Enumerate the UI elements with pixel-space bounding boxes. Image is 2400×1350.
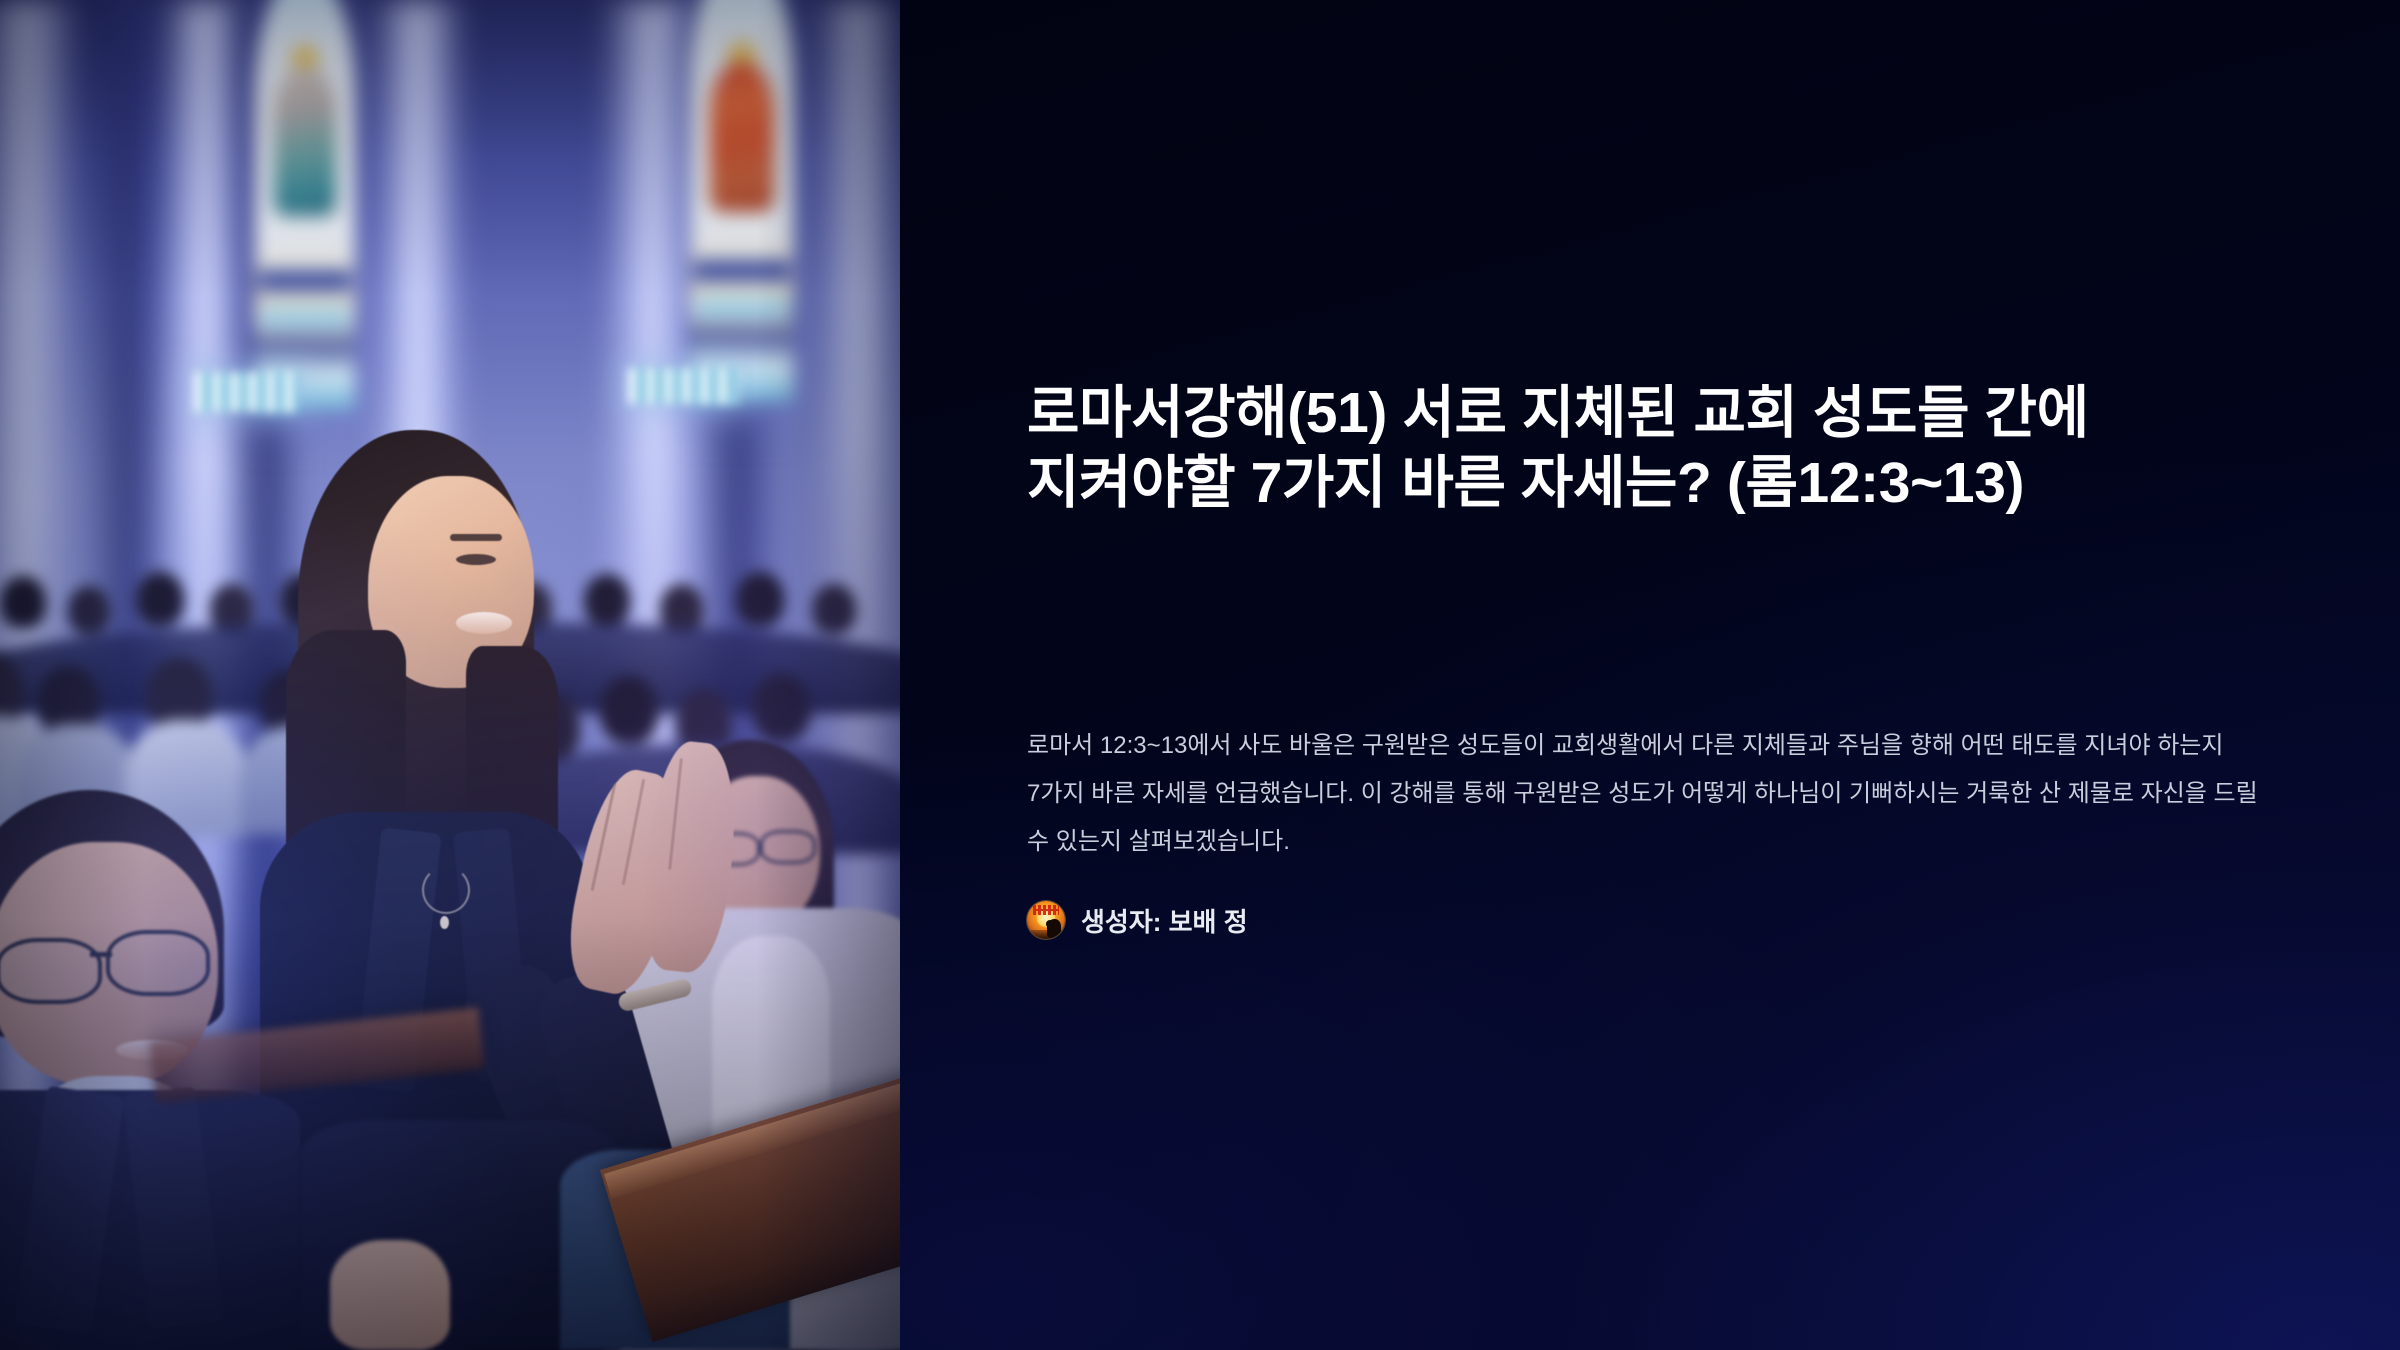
byline: 생성자: 보배 정	[1027, 901, 1248, 939]
eye	[456, 554, 496, 565]
panel-content: 로마서강해(51) 서로 지체된 교회 성도들 간에 지켜야할 7가지 바른 자…	[1027, 0, 2273, 1350]
article-text-panel: 로마서강해(51) 서로 지체된 교회 성도들 간에 지켜야할 7가지 바른 자…	[900, 0, 2400, 1350]
slide-canvas: 로마서강해(51) 서로 지체된 교회 성도들 간에 지켜야할 7가지 바른 자…	[0, 0, 2400, 1350]
avatar-caption-marks	[1033, 905, 1059, 915]
praying-silhouette	[1047, 919, 1061, 938]
necklace	[422, 866, 470, 914]
pendant	[440, 916, 449, 929]
stained-glass-foot-band	[694, 296, 790, 320]
clerestory-window-2	[628, 368, 738, 404]
page-title: 로마서강해(51) 서로 지체된 교회 성도들 간에 지켜야할 7가지 바른 자…	[1027, 378, 2267, 518]
stained-glass-base-band	[694, 260, 790, 282]
eyeglasses-lens-left	[0, 938, 102, 1004]
eyeglasses-lens-right	[106, 930, 210, 996]
stained-glass-foot-band	[259, 306, 351, 330]
stained-glass-figure-robe	[710, 62, 774, 212]
stained-glass-window-1	[255, 0, 355, 410]
eyeglasses-bridge	[90, 952, 112, 957]
stained-glass-figure-robe	[274, 66, 336, 216]
clasped-hands	[330, 1240, 450, 1350]
stained-glass-window-2	[690, 0, 794, 402]
clerestory-window-1	[194, 372, 298, 412]
hero-image	[0, 0, 900, 1350]
smile	[456, 612, 512, 634]
byline-label: 생성자: 보배 정	[1081, 902, 1248, 939]
eyebrow	[450, 534, 502, 541]
article-summary: 로마서 12:3~13에서 사도 바울은 구원받은 성도들이 교회생활에서 다른…	[1027, 722, 2275, 866]
stained-glass-base-band	[259, 270, 351, 292]
sunset-prayer-avatar-icon	[1027, 901, 1065, 939]
